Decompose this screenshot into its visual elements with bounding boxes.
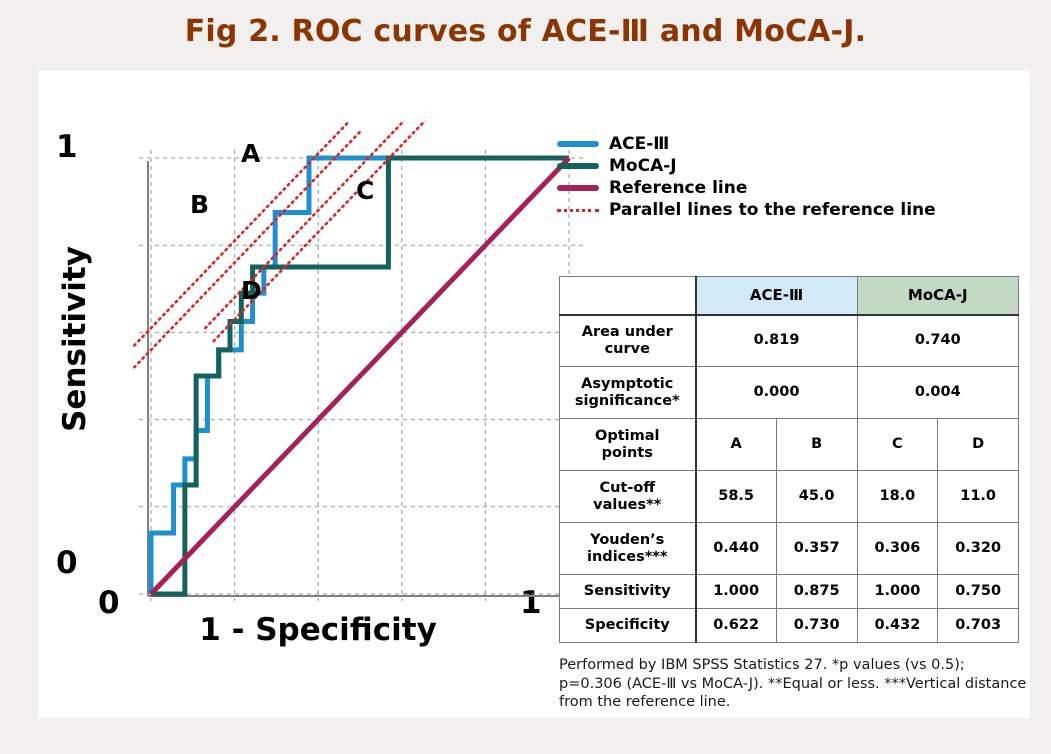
table-cell: 0.622 (696, 609, 777, 643)
table-row: Specificity0.6220.7300.4320.703 (560, 609, 1019, 643)
table-row-label: Asymptoticsignificance* (560, 367, 696, 419)
table-cell: 1.000 (857, 575, 938, 609)
table-row-label: Area undercurve (560, 315, 696, 367)
table-cell: 0.440 (696, 523, 777, 575)
table-row-label: Specificity (560, 609, 696, 643)
table-cell: 0.750 (938, 575, 1019, 609)
table-row: Cut-offvalues**58.545.018.011.0 (560, 471, 1019, 523)
table-header-blank (560, 277, 696, 315)
table-cell: 45.0 (776, 471, 857, 523)
table-row-label: Youden’sindices*** (560, 523, 696, 575)
line-swatch-icon (557, 141, 599, 147)
table-cell: 58.5 (696, 471, 777, 523)
table-cell: 1.000 (696, 575, 777, 609)
table-row: Youden’sindices***0.4400.3570.3060.320 (560, 523, 1019, 575)
y-axis-tick-0: 0 (56, 545, 78, 581)
annotation-label-a: A (241, 139, 260, 168)
table-cell: A (696, 419, 777, 471)
table-row-label: Cut-offvalues** (560, 471, 696, 523)
figure-card: Sensitivity 1 0 0 1 1 - Specificity A B … (38, 71, 1030, 718)
line-swatch-icon (557, 163, 599, 169)
annotation-label-d: D (241, 276, 262, 305)
line-swatch-icon (557, 185, 599, 191)
table-cell: 0.703 (938, 609, 1019, 643)
legend-label: ACE-Ⅲ (609, 134, 669, 154)
table-cell: 0.000 (696, 367, 858, 419)
legend-label: Reference line (609, 178, 747, 198)
legend-label: MoCA-J (609, 156, 677, 176)
plot-canvas (88, 121, 588, 601)
legend-label: Parallel lines to the reference line (609, 200, 936, 220)
table-header-ace: ACE-Ⅲ (696, 277, 858, 315)
statistics-table: ACE-ⅢMoCA-JArea undercurve0.8190.740Asym… (559, 276, 1019, 643)
table-cell: B (776, 419, 857, 471)
table-row: Sensitivity1.0000.8751.0000.750 (560, 575, 1019, 609)
table-cell: 0.004 (857, 367, 1019, 419)
y-axis-tick-1: 1 (56, 129, 78, 165)
x-axis-title: 1 - Specificity (138, 612, 498, 648)
page-title: Fig 2. ROC curves of ACE-Ⅲ and MoCA-J. (0, 14, 1051, 49)
figure-root: Fig 2. ROC curves of ACE-Ⅲ and MoCA-J. S… (0, 0, 1051, 754)
roc-chart: Sensitivity 1 0 0 1 1 - Specificity A B … (38, 71, 558, 671)
table-cell: 0.320 (938, 523, 1019, 575)
table-header-moca: MoCA-J (857, 277, 1019, 315)
table-header-row: ACE-ⅢMoCA-J (560, 277, 1019, 315)
table-cell: 11.0 (938, 471, 1019, 523)
table-cell: D (938, 419, 1019, 471)
legend-item-reference-line: Reference line (557, 177, 1027, 199)
table-cell: 0.730 (776, 609, 857, 643)
table-cell: 0.357 (776, 523, 857, 575)
table-cell: 0.875 (776, 575, 857, 609)
table-row-label: Optimalpoints (560, 419, 696, 471)
table-row: Area undercurve0.8190.740 (560, 315, 1019, 367)
legend-item-parallel-lines-to-the-reference-line: Parallel lines to the reference line (557, 199, 1027, 221)
table-row-label: Sensitivity (560, 575, 696, 609)
table-cell: 0.740 (857, 315, 1019, 367)
series-layer (151, 158, 569, 594)
legend-item-ace: ACE-Ⅲ (557, 133, 1027, 155)
table-footnote: Performed by IBM SPSS Statistics 27. *p … (559, 656, 1029, 712)
dotted-line-swatch-icon (557, 209, 599, 212)
annotation-label-c: C (356, 176, 374, 205)
table-row: OptimalpointsABCD (560, 419, 1019, 471)
chart-legend: ACE-ⅢMoCA-JReference lineParallel lines … (557, 133, 1027, 221)
annotation-label-b: B (190, 190, 209, 219)
table-cell: 0.306 (857, 523, 938, 575)
legend-item-moca-j: MoCA-J (557, 155, 1027, 177)
table-cell: 0.819 (696, 315, 858, 367)
table-cell: 0.432 (857, 609, 938, 643)
table-cell: C (857, 419, 938, 471)
table-cell: 18.0 (857, 471, 938, 523)
table-row: Asymptoticsignificance*0.0000.004 (560, 367, 1019, 419)
